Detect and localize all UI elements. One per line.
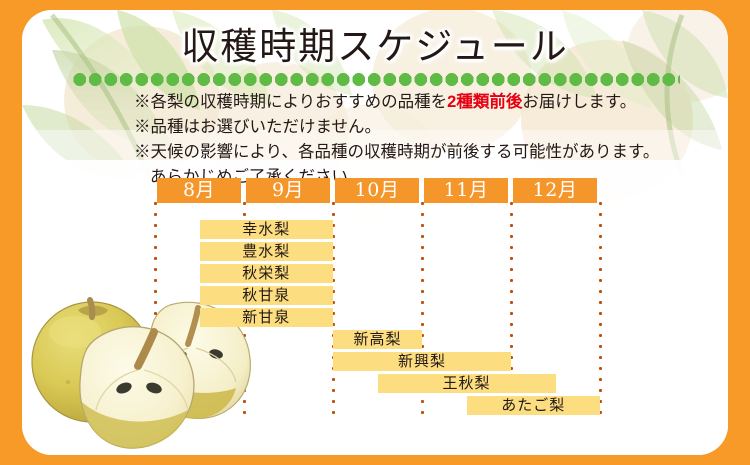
variety-bar-豊水梨: 豊水梨 <box>200 242 334 261</box>
note-text: ※天候の影響により、各品種の収穫時期が前後する可能性があります。 <box>134 143 659 161</box>
variety-bar-秋甘泉: 秋甘泉 <box>200 286 334 305</box>
month-header-12: 12月 <box>513 178 597 203</box>
variety-bar-秋栄梨: 秋栄梨 <box>200 264 334 283</box>
variety-bar-新興梨: 新興梨 <box>333 352 511 371</box>
month-header-10: 10月 <box>335 178 419 203</box>
variety-bar-王秋梨: 王秋梨 <box>378 374 556 393</box>
note-line: ※各梨の収穫時期によりおすすめの品種を2種類前後お届けします。 <box>134 90 688 115</box>
content-card: 収穫時期スケジュール ※各梨の収穫時期によりおすすめの品種を2種類前後お届けしま… <box>22 10 728 455</box>
month-header-11: 11月 <box>424 178 508 203</box>
note-emphasis: 2種類前後 <box>447 93 522 111</box>
note-text: ※各梨の収穫時期によりおすすめの品種を <box>134 93 447 111</box>
variety-bar-あたご梨: あたご梨 <box>467 396 601 415</box>
notes-block: ※各梨の収穫時期によりおすすめの品種を2種類前後お届けします。 ※品種はお選びい… <box>134 90 688 190</box>
page-title-wrapper: 収穫時期スケジュール <box>22 16 728 70</box>
variety-bar-幸水梨: 幸水梨 <box>200 220 334 239</box>
page-title: 収穫時期スケジュール <box>181 25 568 68</box>
grid-line <box>154 198 157 416</box>
green-dotted-divider <box>72 73 680 86</box>
note-text: ※品種はお選びいただけません。 <box>134 118 381 136</box>
note-line: ※品種はお選びいただけません。 <box>134 115 688 140</box>
harvest-schedule-chart: 8月9月10月11月12月幸水梨豊水梨秋栄梨秋甘泉新甘泉新高梨新興梨王秋梨あたご… <box>155 178 600 416</box>
variety-bar-新甘泉: 新甘泉 <box>200 308 334 327</box>
month-header-9: 9月 <box>246 178 330 203</box>
variety-bar-新高梨: 新高梨 <box>333 330 422 349</box>
month-header-8: 8月 <box>157 178 241 203</box>
grid-line <box>599 198 602 416</box>
note-line: ※天候の影響により、各品種の収穫時期が前後する可能性があります。 <box>134 140 688 165</box>
note-text-tail: お届けします。 <box>522 93 636 111</box>
